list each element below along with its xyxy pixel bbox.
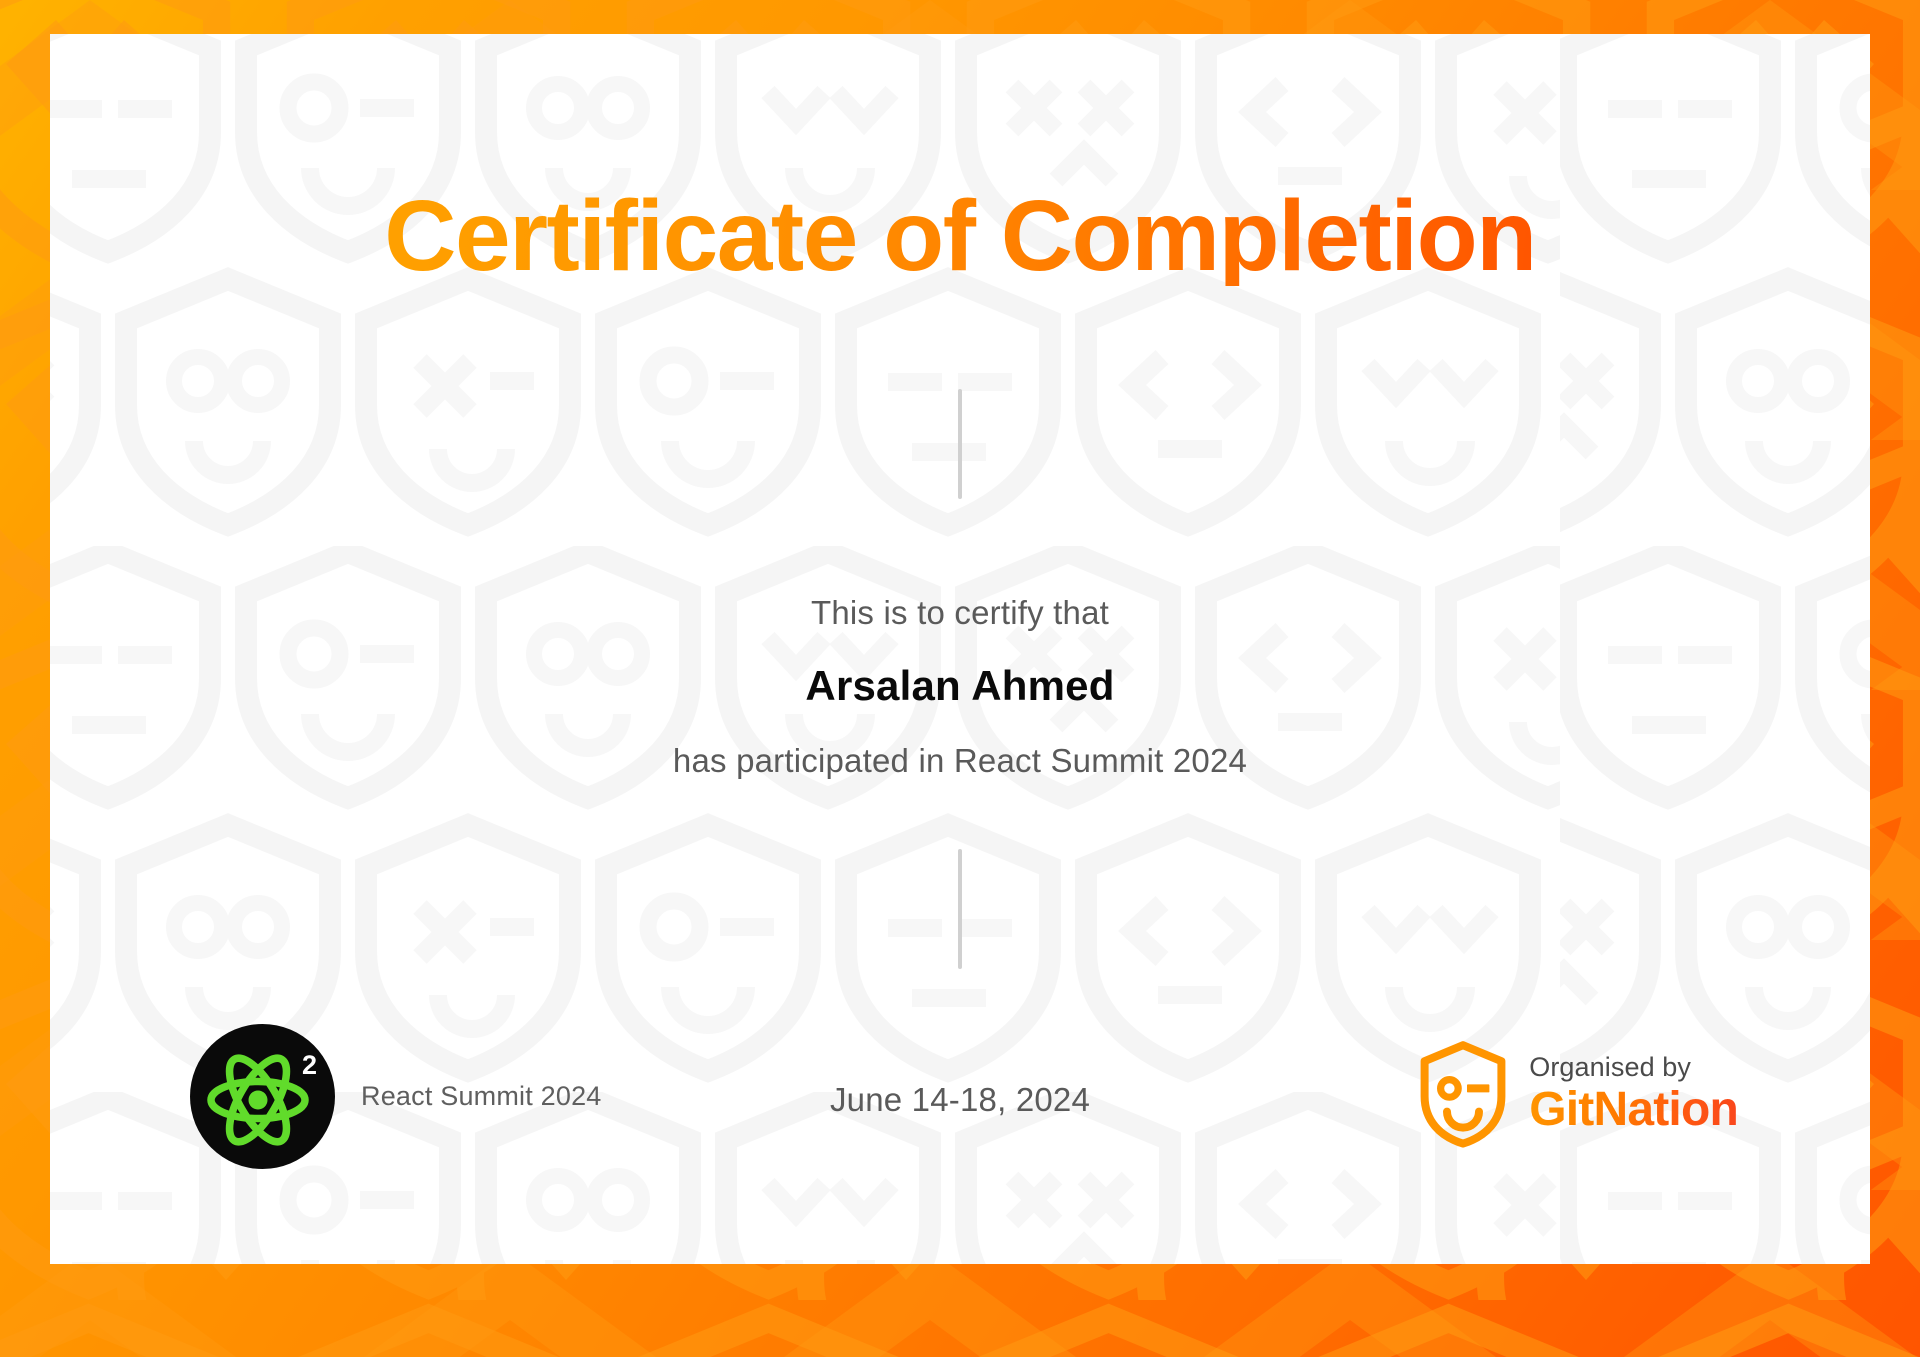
certificate: Certificate of Completion This is to cer… [0, 0, 1920, 1357]
page-title: Certificate of Completion [50, 186, 1870, 286]
certify-line: This is to certify that [50, 594, 1870, 632]
organiser-label: Organised by [1529, 1052, 1738, 1083]
organiser-block: Organised by GitNation [1419, 1040, 1738, 1148]
participation-line: has participated in React Summit 2024 [50, 742, 1870, 780]
svg-text:2: 2 [302, 1050, 317, 1080]
gitnation-shield-mask-icon [1419, 1040, 1507, 1148]
recipient-name: Arsalan Ahmed [50, 662, 1870, 710]
organiser-brand: GitNation [1529, 1085, 1738, 1135]
divider-bottom [958, 849, 962, 969]
certificate-footer: 2 React Summit 2024 June 14-18, 2024 [50, 1024, 1870, 1214]
divider-top [958, 389, 962, 499]
certificate-card: Certificate of Completion This is to cer… [50, 34, 1870, 1264]
